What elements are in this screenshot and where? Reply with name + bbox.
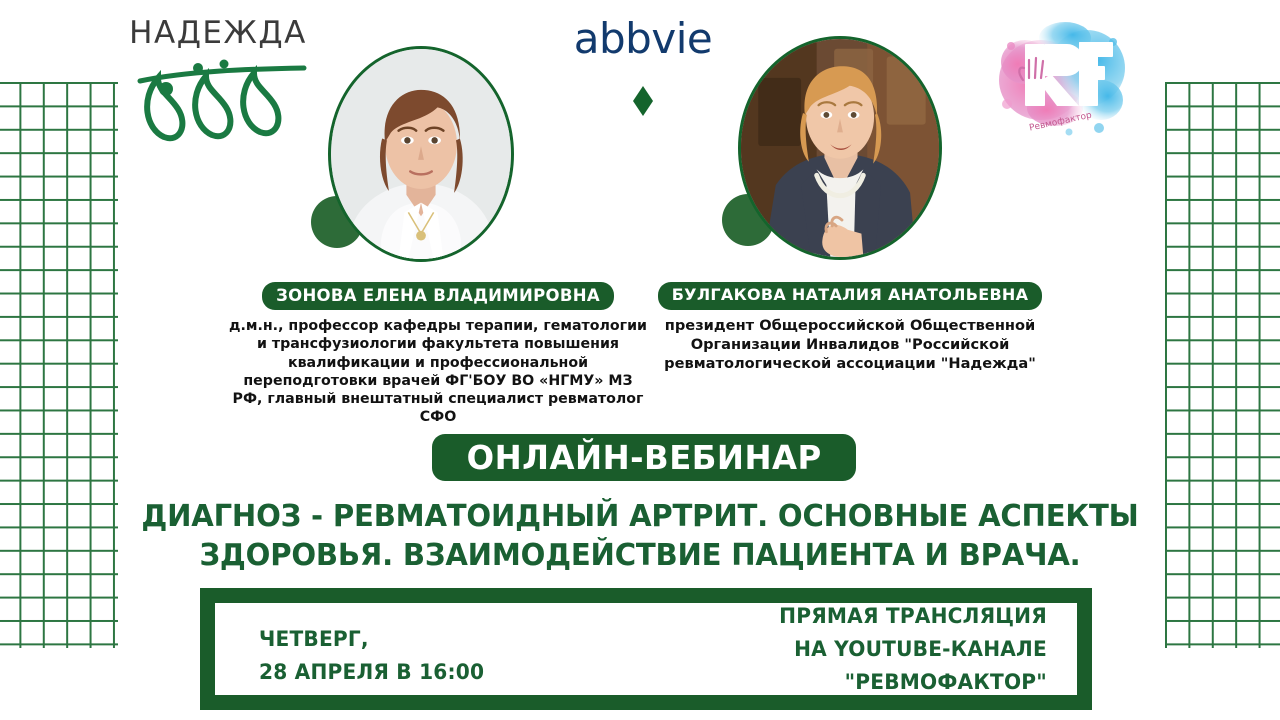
avatar: [328, 46, 514, 262]
avatar: [738, 36, 942, 260]
broadcast-line-2: НА YOUTUBE-КАНАЛЕ: [779, 633, 1047, 666]
speaker-description-2: президент Общероссийской Общественной Ор…: [640, 317, 1060, 374]
abbvie-diamond-icon: [633, 86, 653, 116]
page-title-line-1: ДИАГНОЗ - РЕВМАТОИДНЫЙ АРТРИТ. ОСНОВНЫЕ …: [97, 497, 1183, 536]
webinar-type-badge: ОНЛАЙН-ВЕБИНАР: [432, 434, 856, 481]
nadezhda-figures-icon: [128, 51, 308, 146]
speaker-block-2: БУЛГАКОВА НАТАЛИЯ АНАТОЛЬЕВНА президент …: [640, 282, 1060, 374]
webinar-type-label: ОНЛАЙН-ВЕБИНАР: [466, 441, 821, 474]
event-details-footer: ЧЕТВЕРГ, 28 АПРЕЛЯ В 16:00 ПРЯМАЯ ТРАНСЛ…: [200, 588, 1092, 710]
event-details-inner: ЧЕТВЕРГ, 28 АПРЕЛЯ В 16:00 ПРЯМАЯ ТРАНСЛ…: [215, 603, 1077, 695]
speaker-name-badge-2: БУЛГАКОВА НАТАЛИЯ АНАТОЛЬЕВНА: [658, 282, 1043, 310]
revmofaktor-logo: Ревмофактор: [995, 12, 1127, 140]
page-title: ДИАГНОЗ - РЕВМАТОИДНЫЙ АРТРИТ. ОСНОВНЫЕ …: [80, 497, 1200, 575]
speaker-portrait-2: [738, 36, 942, 260]
event-datetime-block: ЧЕТВЕРГ, 28 АПРЕЛЯ В 16:00: [259, 623, 494, 689]
abbvie-logo: abbvie: [553, 18, 733, 70]
broadcast-info-block: ПРЯМАЯ ТРАНСЛЯЦИЯ НА YOUTUBE-КАНАЛЕ "РЕВ…: [768, 600, 1047, 700]
webinar-poster: НАДЕЖДА abbvie: [0, 0, 1280, 720]
event-date-time-label: 28 АПРЕЛЯ В 16:00: [259, 656, 484, 689]
speaker-portrait-1: [328, 46, 514, 262]
page-title-line-2: ЗДОРОВЬЯ. ВЗАИМОДЕЙСТВИЕ ПАЦИЕНТА И ВРАЧ…: [97, 536, 1183, 575]
revmofaktor-watercolor-icon: Ревмофактор: [995, 12, 1127, 140]
portrait-zonova-icon: [331, 49, 511, 259]
nadezhda-logo-text: НАДЕЖДА: [128, 6, 308, 49]
speaker-description-1: д.м.н., профессор кафедры терапии, гемат…: [228, 317, 648, 426]
portrait-bulgakova-icon: [741, 39, 939, 257]
broadcast-line-3: "РЕВМОФАКТОР": [779, 666, 1047, 699]
event-day-label: ЧЕТВЕРГ,: [259, 623, 484, 656]
speaker-block-1: ЗОНОВА ЕЛЕНА ВЛАДИМИРОВНА д.м.н., профес…: [228, 282, 648, 426]
broadcast-line-1: ПРЯМАЯ ТРАНСЛЯЦИЯ: [779, 600, 1047, 633]
abbvie-logo-text: abbvie: [553, 18, 733, 60]
nadezhda-logo: НАДЕЖДА: [128, 6, 308, 154]
speaker-name-badge-1: ЗОНОВА ЕЛЕНА ВЛАДИМИРОВНА: [262, 282, 614, 310]
